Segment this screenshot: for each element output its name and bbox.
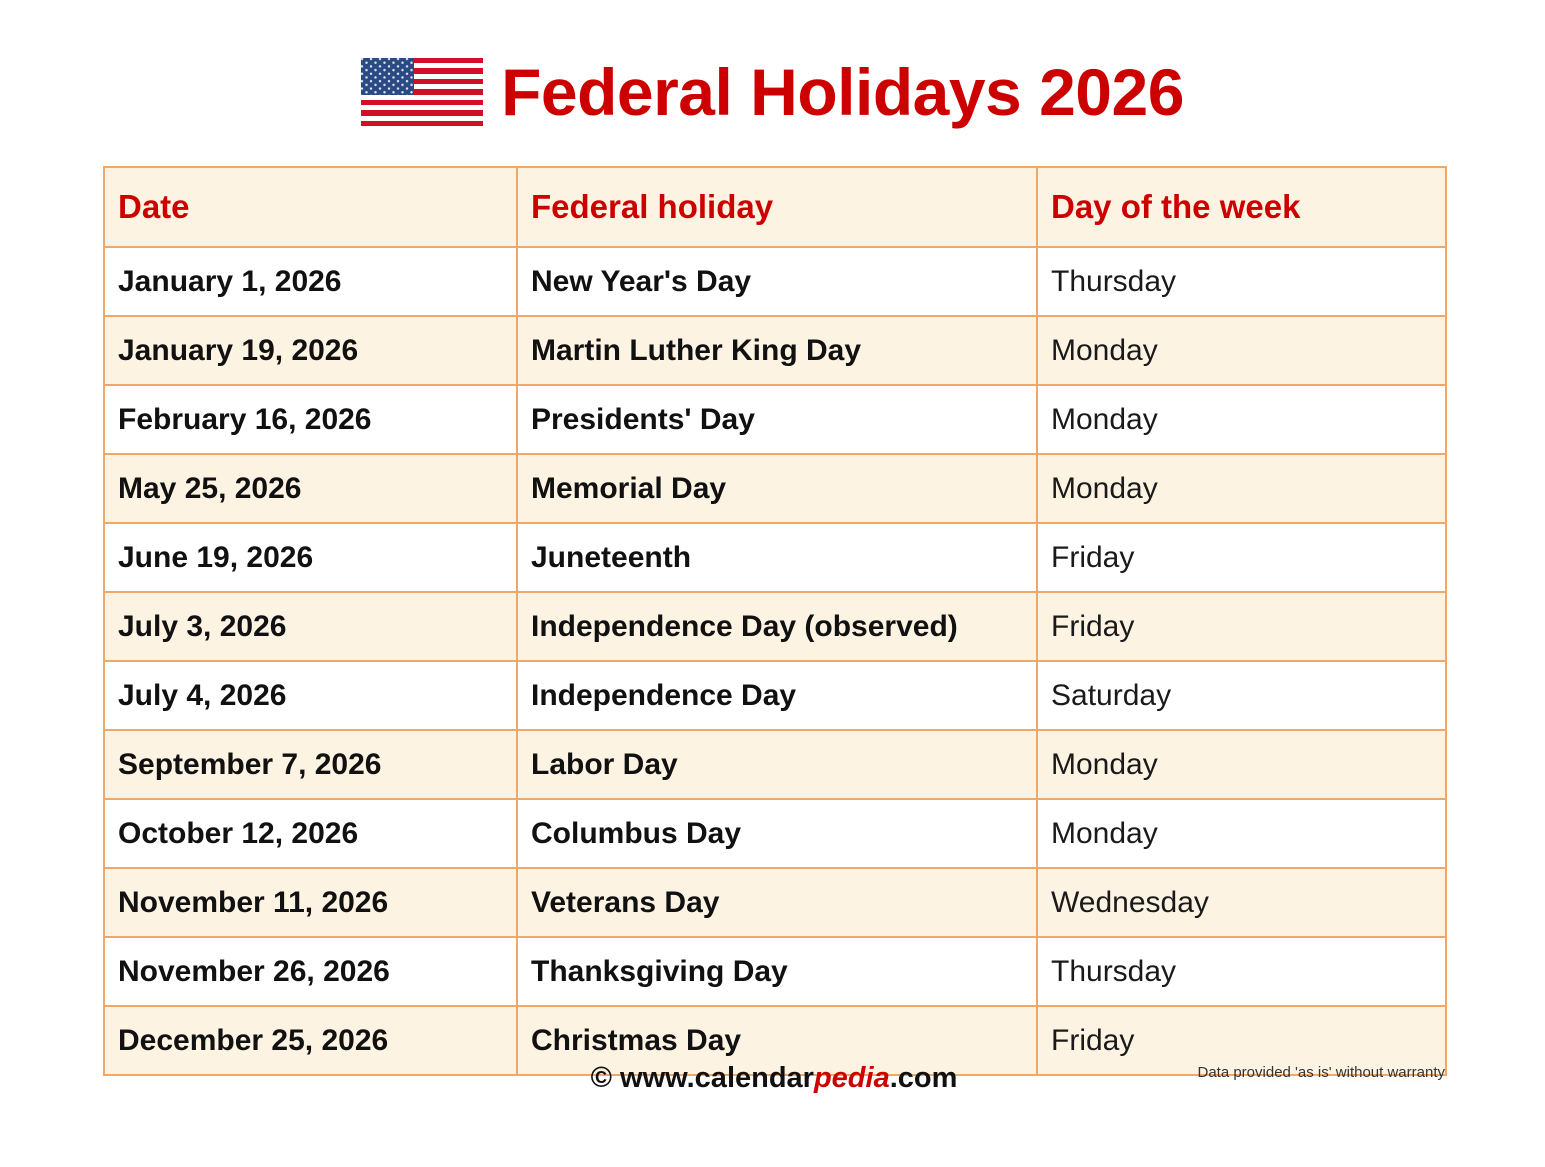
table-row: June 19, 2026 Juneteenth Friday (104, 523, 1446, 592)
table-row: October 12, 2026 Columbus Day Monday (104, 799, 1446, 868)
cell-day: Monday (1037, 316, 1446, 385)
table-row: January 19, 2026 Martin Luther King Day … (104, 316, 1446, 385)
cell-day: Monday (1037, 385, 1446, 454)
cell-date: November 11, 2026 (104, 868, 517, 937)
copyright-symbol: © (591, 1062, 612, 1094)
cell-day: Friday (1037, 523, 1446, 592)
table-row: July 4, 2026 Independence Day Saturday (104, 661, 1446, 730)
cell-date: January 1, 2026 (104, 247, 517, 316)
cell-date: June 19, 2026 (104, 523, 517, 592)
table-header-row: Date Federal holiday Day of the week (104, 167, 1446, 247)
table-row: July 3, 2026 Independence Day (observed)… (104, 592, 1446, 661)
site-url-prefix: www.calendar (620, 1062, 814, 1094)
cell-day: Thursday (1037, 937, 1446, 1006)
site-url-suffix: .com (890, 1062, 958, 1094)
cell-day: Monday (1037, 730, 1446, 799)
cell-holiday: New Year's Day (517, 247, 1037, 316)
cell-holiday: Independence Day (observed) (517, 592, 1037, 661)
cell-date: May 25, 2026 (104, 454, 517, 523)
us-flag-icon (361, 58, 483, 126)
cell-holiday: Labor Day (517, 730, 1037, 799)
column-header-holiday: Federal holiday (517, 167, 1037, 247)
cell-holiday: Columbus Day (517, 799, 1037, 868)
table-row: May 25, 2026 Memorial Day Monday (104, 454, 1446, 523)
cell-holiday: Memorial Day (517, 454, 1037, 523)
cell-holiday: Juneteenth (517, 523, 1037, 592)
cell-date: September 7, 2026 (104, 730, 517, 799)
column-header-day: Day of the week (1037, 167, 1446, 247)
cell-date: January 19, 2026 (104, 316, 517, 385)
cell-date: October 12, 2026 (104, 799, 517, 868)
page-header: Federal Holidays 2026 (0, 58, 1545, 126)
cell-day: Friday (1037, 592, 1446, 661)
table-row: November 11, 2026 Veterans Day Wednesday (104, 868, 1446, 937)
site-url[interactable]: www.calendarpedia.com (620, 1062, 957, 1094)
cell-day: Wednesday (1037, 868, 1446, 937)
federal-holidays-table: Date Federal holiday Day of the week Jan… (103, 166, 1447, 1076)
cell-date: July 3, 2026 (104, 592, 517, 661)
cell-holiday: Martin Luther King Day (517, 316, 1037, 385)
page-title: Federal Holidays 2026 (501, 59, 1184, 125)
cell-day: Thursday (1037, 247, 1446, 316)
cell-holiday: Presidents' Day (517, 385, 1037, 454)
site-url-accent: pedia (814, 1062, 890, 1094)
table-row: November 26, 2026 Thanksgiving Day Thurs… (104, 937, 1446, 1006)
cell-date: November 26, 2026 (104, 937, 517, 1006)
table-row: January 1, 2026 New Year's Day Thursday (104, 247, 1446, 316)
column-header-date: Date (104, 167, 517, 247)
page-footer: © www.calendarpedia.com Data provided 'a… (103, 1058, 1445, 1098)
table-row: September 7, 2026 Labor Day Monday (104, 730, 1446, 799)
table-body: January 1, 2026 New Year's Day Thursday … (104, 247, 1446, 1075)
cell-holiday: Independence Day (517, 661, 1037, 730)
cell-date: July 4, 2026 (104, 661, 517, 730)
cell-date: February 16, 2026 (104, 385, 517, 454)
cell-holiday: Veterans Day (517, 868, 1037, 937)
cell-holiday: Thanksgiving Day (517, 937, 1037, 1006)
table-row: February 16, 2026 Presidents' Day Monday (104, 385, 1446, 454)
cell-day: Monday (1037, 454, 1446, 523)
cell-day: Saturday (1037, 661, 1446, 730)
cell-day: Monday (1037, 799, 1446, 868)
disclaimer-text: Data provided 'as is' without warranty (1197, 1058, 1445, 1088)
